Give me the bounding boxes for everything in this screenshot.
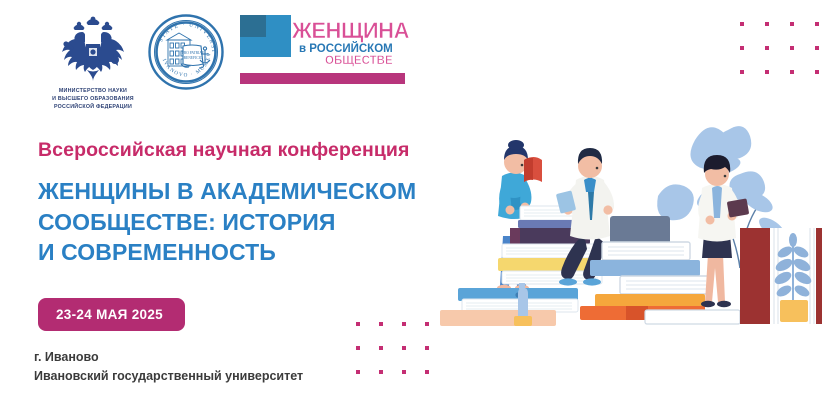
journal-word-v-rossiyskom: в РОССИЙСКОМ [299, 43, 393, 55]
title-line-3: И СОВРЕМЕННОСТЬ [38, 237, 416, 268]
decorative-dot [765, 70, 769, 74]
decorative-dot [815, 46, 819, 50]
venue-university: Ивановский государственный университет [34, 367, 303, 386]
decorative-dot [379, 346, 383, 350]
decorative-dot [379, 322, 383, 326]
journal-word-zhenshchina: ЖЕНЩИНА [292, 18, 409, 44]
journal-square-icon [240, 15, 298, 65]
ivanovo-state-university-seal: STATE · UNIVERSITY IVANOVO · MCMXVIII [148, 14, 224, 90]
journal-word-obshchestve: ОБЩЕСТВЕ [325, 55, 393, 67]
title-line-1: ЖЕНЩИНЫ В АКАДЕМИЧЕСКОМ [38, 176, 416, 207]
page-title: ЖЕНЩИНЫ В АКАДЕМИЧЕСКОМ СООБЩЕСТВЕ: ИСТО… [38, 176, 416, 268]
decorative-dot [356, 346, 360, 350]
dot-grid-bottom [356, 322, 448, 394]
dot-grid-topright [740, 22, 829, 94]
logo-row: МИНИСТЕРСТВО НАУКИ И ВЫСШЕГО ОБРАЗОВАНИЯ… [0, 0, 460, 115]
decorative-dot [402, 370, 406, 374]
decorative-dot [402, 322, 406, 326]
dark-red-book-with-plant-motif [740, 228, 822, 324]
conference-subtitle: Всероссийская научная конференция [38, 139, 410, 162]
ministry-logo-text: МИНИСТЕРСТВО НАУКИ И ВЫСШЕГО ОБРАЗОВАНИЯ… [38, 88, 148, 112]
decorative-dot [740, 46, 744, 50]
ministry-logo: МИНИСТЕРСТВО НАУКИ И ВЫСШЕГО ОБРАЗОВАНИЯ… [38, 14, 148, 112]
decorative-dot [425, 346, 429, 350]
decorative-dot [402, 346, 406, 350]
scientists-illustration [440, 88, 829, 328]
date-badge: 23-24 МАЯ 2025 [38, 298, 185, 331]
decorative-dot [740, 22, 744, 26]
ministry-line-2: И ВЫСШЕГО ОБРАЗОВАНИЯ [38, 96, 148, 104]
decorative-dot [425, 322, 429, 326]
journal-magenta-bar [240, 73, 405, 84]
decorative-dot [740, 70, 744, 74]
decorative-dot [815, 70, 819, 74]
title-line-2: СООБЩЕСТВЕ: ИСТОРИЯ [38, 207, 416, 238]
decorative-dot [425, 370, 429, 374]
decorative-dot [765, 46, 769, 50]
decorative-dot [356, 322, 360, 326]
russian-double-headed-eagle-emblem [56, 14, 130, 82]
svg-text:BENEFICIO: BENEFICIO [184, 56, 203, 60]
venue-block: г. Иваново Ивановский государственный ун… [34, 348, 303, 387]
university-seal-logo: STATE · UNIVERSITY IVANOVO · MCMXVIII [148, 14, 224, 90]
decorative-dot [790, 22, 794, 26]
illustration-svg [440, 88, 829, 328]
decorative-dot [379, 370, 383, 374]
conference-poster: МИНИСТЕРСТВО НАУКИ И ВЫСШЕГО ОБРАЗОВАНИЯ… [0, 0, 829, 414]
decorative-dot [815, 22, 819, 26]
decorative-dot [356, 370, 360, 374]
decorative-dot [790, 46, 794, 50]
decorative-dot [765, 22, 769, 26]
book-stack-left [440, 288, 578, 326]
venue-city: г. Иваново [34, 348, 303, 367]
decorative-dot [790, 70, 794, 74]
ministry-line-1: МИНИСТЕРСТВО НАУКИ [38, 88, 148, 96]
journal-logo: ЖЕНЩИНА в РОССИЙСКОМ ОБЩЕСТВЕ [240, 12, 405, 84]
ministry-line-3: РОССИЙСКОЙ ФЕДЕРАЦИИ [38, 104, 148, 112]
